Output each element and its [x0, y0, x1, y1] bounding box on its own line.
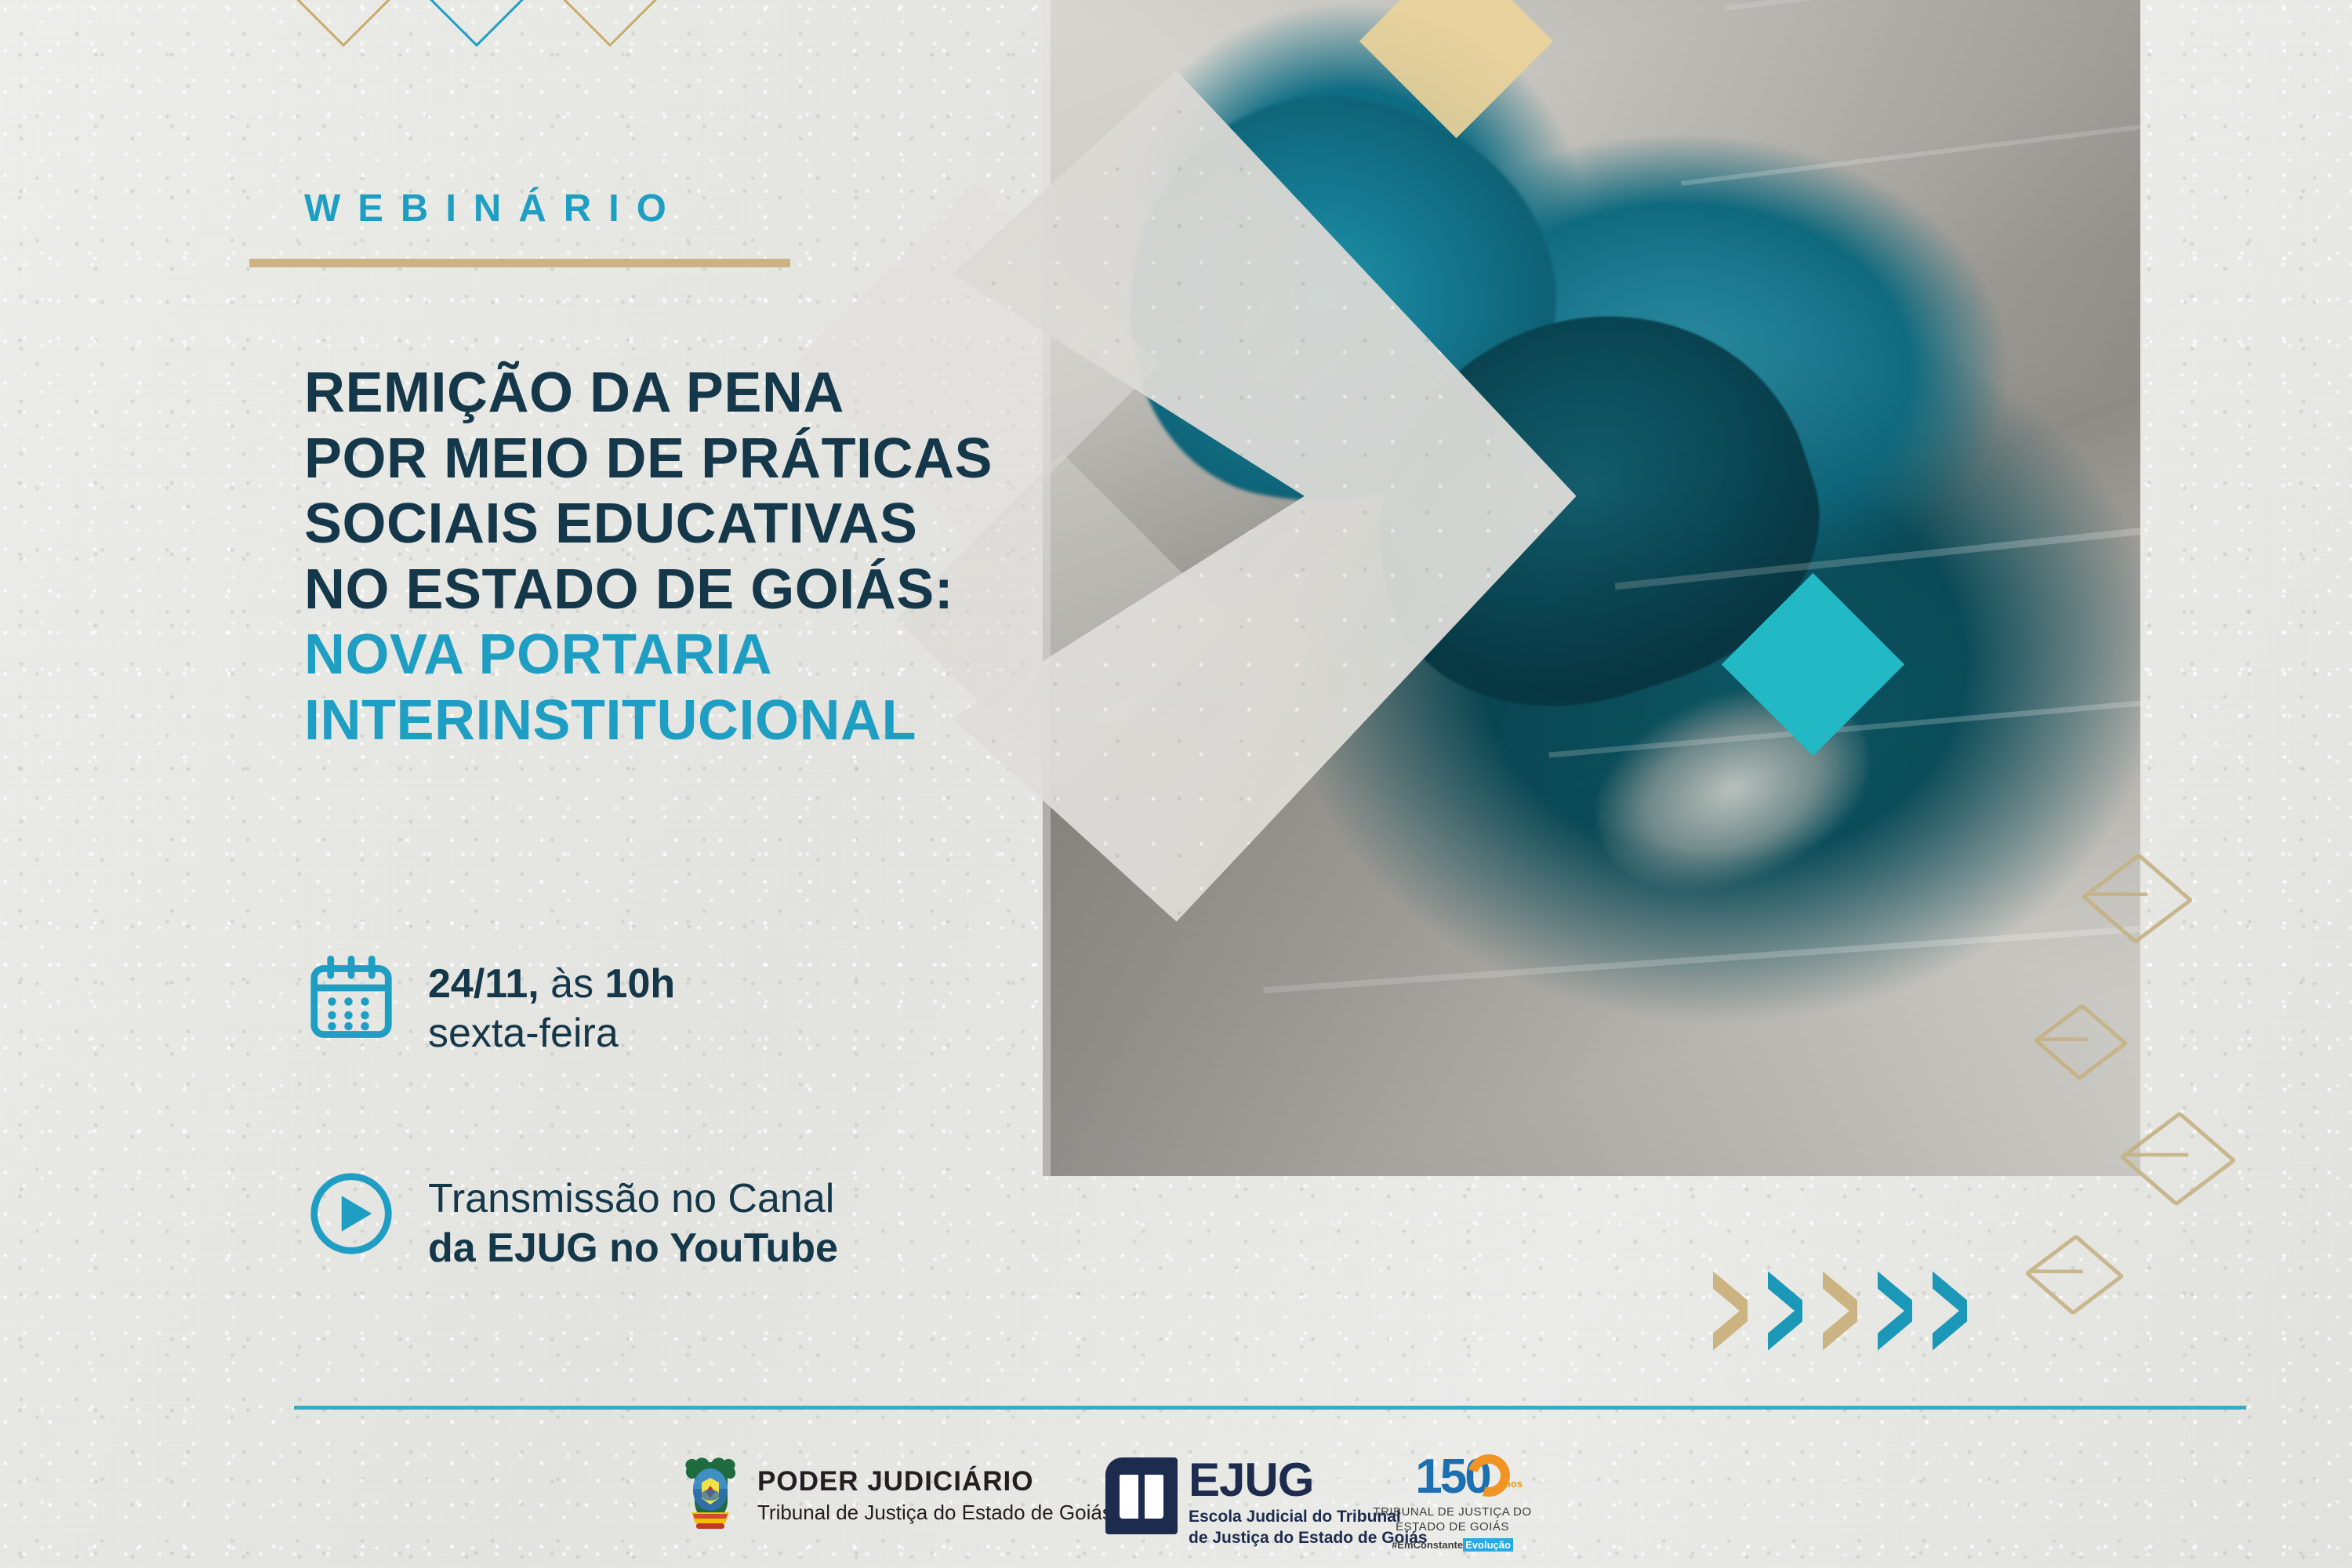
poder-judiciario-logo: PODER JUDICIÁRIO Tribunal de Justiça do …: [681, 1454, 1112, 1539]
goias-coat-of-arms-icon: [681, 1454, 742, 1539]
chevron-arrow-row: [1713, 1274, 1967, 1349]
title-highlight-line: INTERINSTITUCIONAL: [304, 688, 1135, 754]
pj-subtitle: Tribunal de Justiça do Estado de Goiás: [757, 1500, 1112, 1526]
chevron-arrow-icon: [1713, 1274, 1748, 1349]
hashtag-highlight: Evolução: [1463, 1538, 1513, 1552]
anniversary-caption: TRIBUNAL DE JUSTIÇA DO ESTADO DE GOIÁS: [1368, 1504, 1537, 1534]
stream-info-row: Transmissão no Canal da EJUG no YouTube: [307, 1170, 838, 1274]
poder-judiciario-text: PODER JUDICIÁRIO Tribunal de Justiça do …: [757, 1467, 1112, 1526]
stream-text: Transmissão no Canal da EJUG no YouTube: [428, 1170, 838, 1274]
footer-divider: [294, 1406, 2246, 1410]
webinar-poster: WEBINÁRIO REMIÇÃO DA PENA POR MEIO DE PR…: [0, 0, 2352, 1568]
title-line: SOCIAIS EDUCATIVAS: [304, 492, 1135, 557]
event-date: 24/11,: [428, 961, 539, 1007]
date-text: 24/11, às 10h sexta-feira: [428, 955, 675, 1059]
open-book-icon: [1105, 1457, 1178, 1534]
chevron-arrow-icon: [1823, 1274, 1857, 1349]
play-circle-icon: [307, 1170, 395, 1261]
stream-line-2: da EJUG no YouTube: [428, 1224, 838, 1273]
footer-logos: PODER JUDICIÁRIO Tribunal de Justiça do …: [0, 1454, 2352, 1568]
page-title: REMIÇÃO DA PENA POR MEIO DE PRÁTICAS SOC…: [304, 361, 1135, 753]
anniversary-hashtag: #EmConstanteEvolução: [1392, 1539, 1513, 1551]
anniversary-logo: 150 anos TRIBUNAL DE JUSTIÇA DO ESTADO D…: [1368, 1453, 1537, 1552]
chevron-arrow-icon: [1768, 1274, 1802, 1349]
kicker-underline-rule: [249, 259, 790, 267]
anniversary-mark-icon: 150 anos: [1368, 1453, 1537, 1501]
webinar-kicker: WEBINÁRIO: [304, 187, 684, 230]
pj-title: PODER JUDICIÁRIO: [757, 1467, 1112, 1497]
title-line: NO ESTADO DE GOIÁS:: [304, 557, 1135, 623]
anniversary-line-1: TRIBUNAL DE JUSTIÇA DO: [1368, 1504, 1537, 1519]
anniversary-line-2: ESTADO DE GOIÁS: [1368, 1519, 1537, 1534]
event-weekday: sexta-feira: [428, 1009, 675, 1058]
title-highlight-line: NOVA PORTARIA: [304, 622, 1135, 688]
anniversary-unit: anos: [1499, 1478, 1523, 1490]
calendar-icon: [307, 955, 395, 1047]
date-info-row: 24/11, às 10h sexta-feira: [307, 955, 675, 1059]
stream-line-1: Transmissão no Canal: [428, 1174, 838, 1224]
title-line: POR MEIO DE PRÁTICAS: [304, 426, 1135, 492]
hashtag-prefix: #EmConstante: [1392, 1539, 1463, 1551]
chevron-arrow-icon: [1878, 1274, 1912, 1349]
date-connector: às: [539, 961, 605, 1007]
title-line: REMIÇÃO DA PENA: [304, 361, 1135, 426]
event-time: 10h: [605, 961, 676, 1007]
chevron-arrow-icon: [1933, 1274, 1967, 1349]
